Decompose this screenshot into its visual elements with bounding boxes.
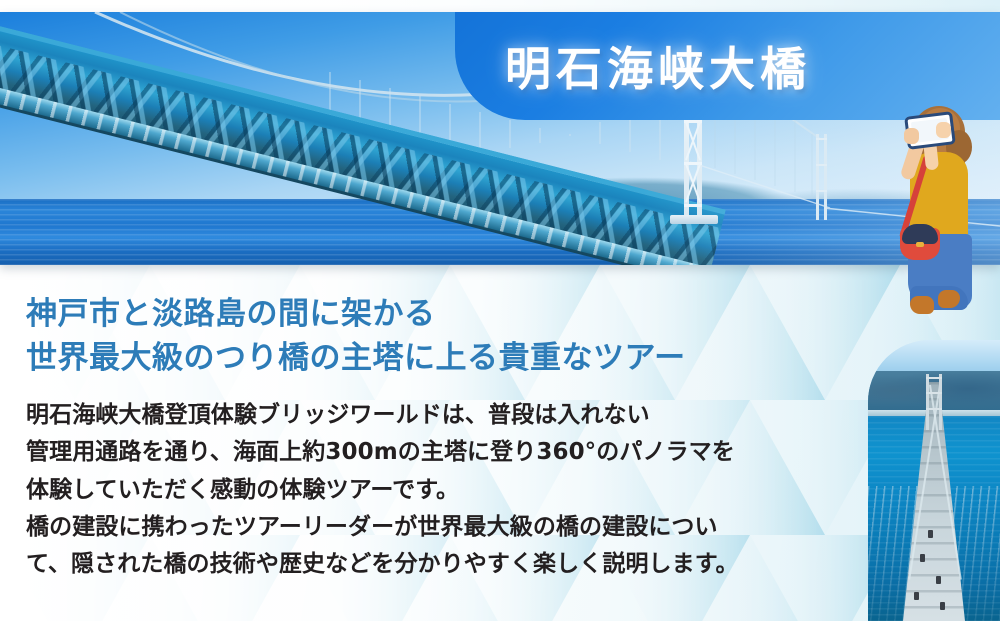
hand-left [904,128,919,144]
body-line-4: 橋の建設に携わったツアーリーダーが世界最大級の橋の建設につい [26,509,856,546]
hand-right [936,122,951,138]
headline-line-1: 神戸市と淡路島の間に架かる [26,292,846,336]
aerial-bridge-photo [868,340,1000,621]
boot-right [938,290,960,308]
aerial-vehicle [920,554,925,562]
body-line-5: て、隠された橋の技術や歴史などを分かりやすく楽しく説明します。 [26,546,856,583]
page-title: 明石海峡大橋 [505,33,811,99]
boot-left [910,296,934,314]
promo-banner: 明石海峡大橋 神戸市と淡路島の間に架かる 世界最大級のつり橋の主塔に上る貴重なツ… [0,0,1000,621]
aerial-vehicle [928,530,933,538]
aerial-vehicle [940,602,945,610]
body-line-3: 体験していただく感動の体験ツアーです。 [26,472,856,509]
headline-line-2: 世界最大級のつり橋の主塔に上る貴重なツアー [26,336,846,380]
bag-clasp [916,242,924,247]
body-line-1: 明石海峡大橋登頂体験ブリッジワールドは、普段は入れない [26,397,856,434]
aerial-tower [926,374,942,430]
body-line-2: 管理用通路を通り、海面上約300mの主塔に登り360°のパノラマを [26,434,856,471]
aerial-vehicle [914,592,919,600]
aerial-vehicle [936,576,941,584]
body-copy: 明石海峡大橋登頂体験ブリッジワールドは、普段は入れない 管理用通路を通り、海面上… [26,397,856,583]
woman-taking-photo-illustration [880,100,990,312]
bag-flap [902,224,938,244]
headline: 神戸市と淡路島の間に架かる 世界最大級のつり橋の主塔に上る貴重なツアー [26,292,846,380]
